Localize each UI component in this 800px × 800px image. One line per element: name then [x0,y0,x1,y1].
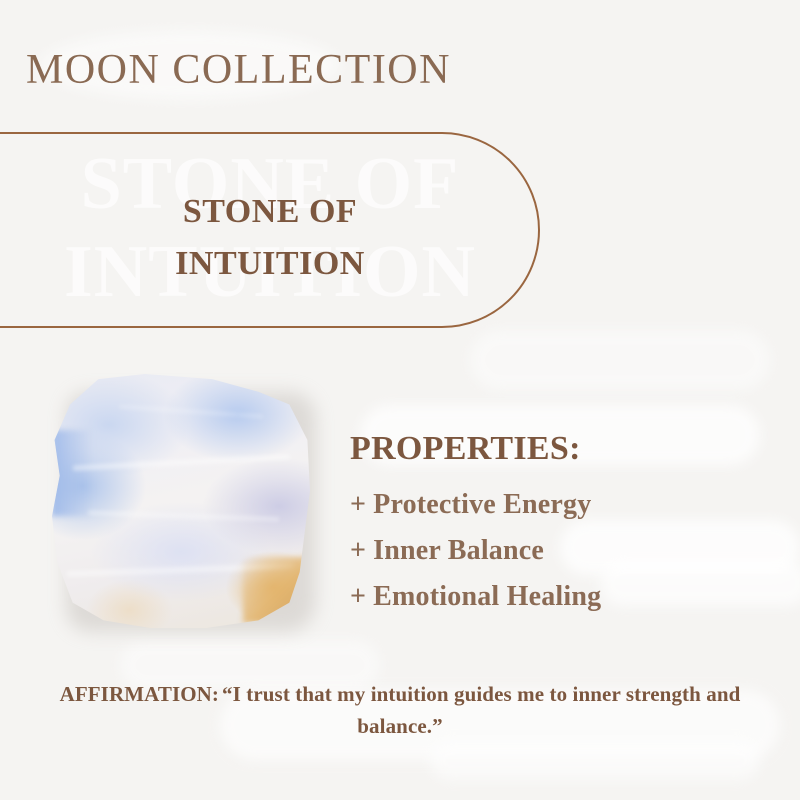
poster-canvas: MOON COLLECTION STONE OF INTUITION STONE… [0,0,800,800]
background-texture-blob [470,330,770,390]
properties-block: PROPERTIES: +Protective Energy +Inner Ba… [350,428,770,620]
property-item: +Protective Energy [350,482,770,528]
plus-icon: + [350,574,366,620]
moonstone-streak [88,510,279,521]
moonstone-body [52,374,310,628]
moonstone-blue-edge [52,430,93,516]
plus-icon: + [350,482,366,528]
moonstone-streak [119,405,263,418]
page-title: MOON COLLECTION [26,46,451,94]
property-item-label: Emotional Healing [373,581,601,612]
moonstone-image [52,374,324,642]
background-texture-blob [430,740,760,780]
hero-heading-line-1: STONE OF [0,186,540,238]
affirmation-quote: “I trust that my intuition guides me to … [222,682,740,738]
hero-heading: STONE OF INTUITION [0,186,540,290]
moonstone-streak [73,455,290,471]
affirmation-label: AFFIRMATION: [60,682,219,706]
properties-title: PROPERTIES: [350,428,770,470]
property-item: +Emotional Healing [350,574,770,620]
hero-heading-line-2: INTUITION [0,238,540,290]
property-item: +Inner Balance [350,528,770,574]
plus-icon: + [350,528,366,574]
affirmation-block: AFFIRMATION:“I trust that my intuition g… [30,678,770,742]
property-item-label: Inner Balance [373,535,544,566]
property-item-label: Protective Energy [373,489,591,520]
